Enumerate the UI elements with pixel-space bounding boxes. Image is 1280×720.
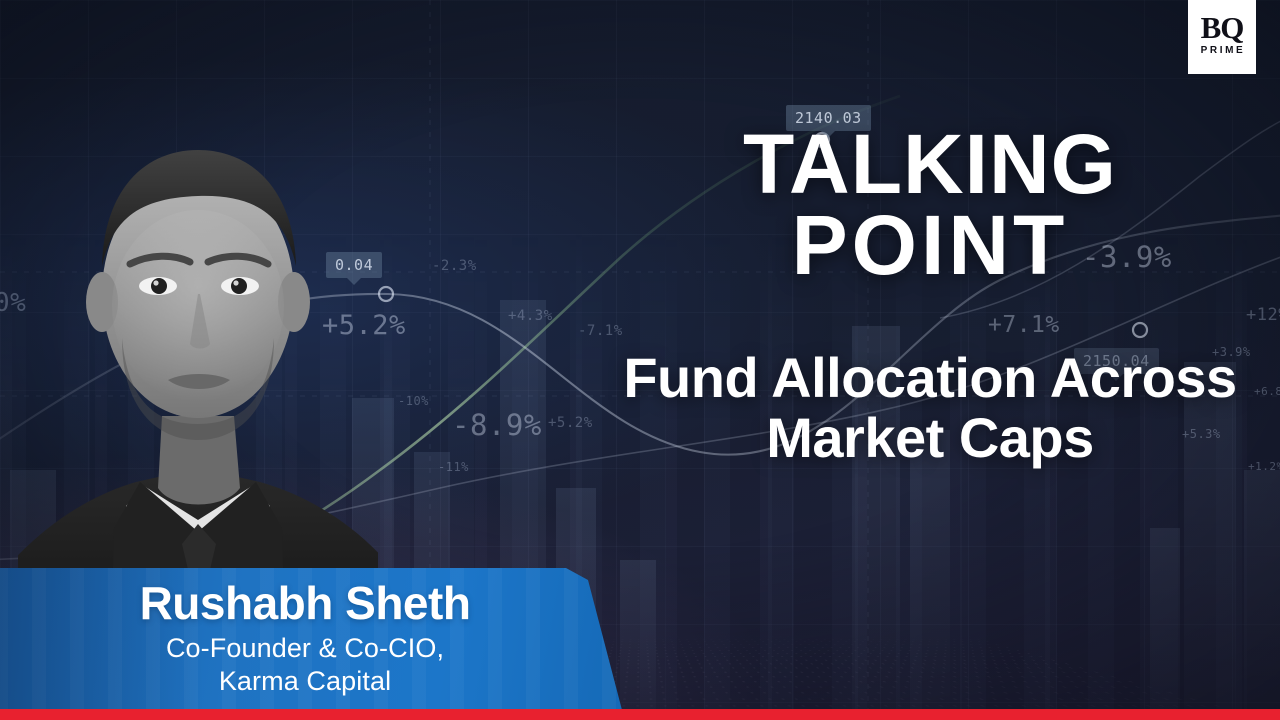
broadcast-title-card: 2140.03 2150.04 0.04 0% +5.2% -2.3% +4.3… [0,0,1280,720]
bg-percent-label: +7.1% [988,312,1060,338]
logo-bq-text: BQ [1201,14,1244,43]
speaker-name: Rushabh Sheth [0,576,610,630]
bg-percent-label: -10% [398,394,429,408]
speaker-role-company: Karma Capital [0,665,610,698]
bg-percent-label: +5.2% [548,415,593,431]
bg-percent-label: -8.9% [452,408,542,442]
speaker-role-title: Co-Founder & Co-CIO, [0,632,610,665]
bq-prime-logo: BQ PRIME [1188,0,1256,74]
bg-percent-label: +4.3% [508,308,553,324]
bg-percent-label: -2.3% [432,258,477,274]
bottom-red-bar [0,709,1280,720]
program-title-line2: POINT [600,207,1260,284]
program-title: TALKING POINT [600,126,1260,285]
logo-prime-text: PRIME [1199,45,1246,56]
episode-subtitle: Fund Allocation Across Market Caps [600,348,1260,469]
speaker-role: Co-Founder & Co-CIO, Karma Capital [0,632,610,698]
bg-percent-label: -11% [438,460,469,474]
bg-percent-label: -7.1% [578,323,623,339]
bg-percent-label: +12% [1246,305,1280,325]
program-title-line1: TALKING [600,126,1260,203]
